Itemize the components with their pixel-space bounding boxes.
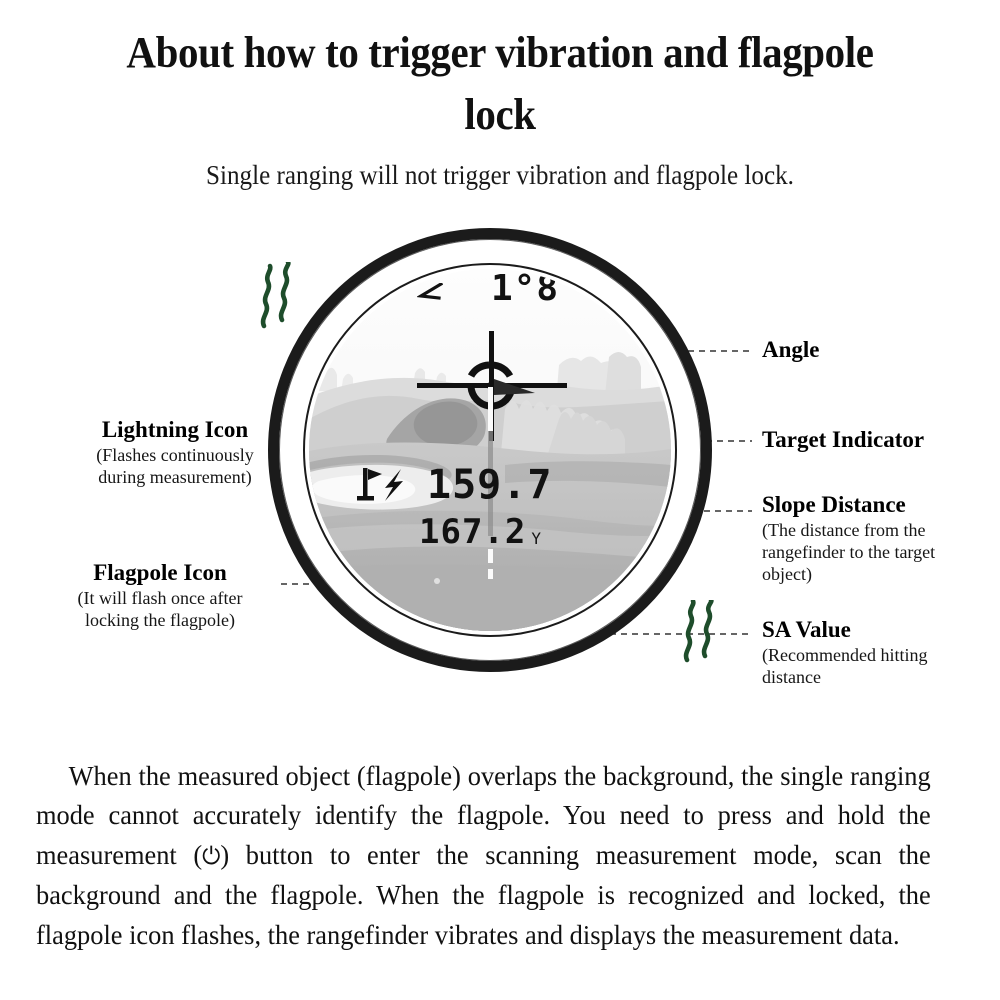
callout-flagpole-note-line2: locking the flagpole)	[85, 610, 235, 630]
angle-value: 1°8	[491, 271, 559, 307]
flagstick-tip-2	[488, 569, 493, 579]
callout-lightning-note-line1: (Flashes continuously	[96, 445, 254, 465]
callout-angle: Angle	[762, 337, 820, 363]
flagpole-and-lightning-icon	[357, 466, 405, 504]
page-title: About how to trigger vibration and flagp…	[91, 22, 909, 147]
callout-slope-title: Slope Distance	[762, 492, 987, 518]
rangefinder-figure: 1°8	[0, 215, 1000, 720]
slope-distance-value: 159.7	[427, 465, 552, 505]
angle-icon	[417, 283, 443, 301]
callout-lightning-note-line2: during measurement)	[98, 467, 251, 487]
callout-sa-title: SA Value	[762, 617, 987, 643]
callout-angle-title: Angle	[762, 337, 820, 363]
callout-slope-note: (The distance from the rangefinder to th…	[762, 520, 987, 586]
callout-flagpole-note-line1: (It will flash once after	[78, 588, 243, 608]
callout-flagpole-title: Flagpole Icon	[30, 560, 290, 586]
body-paragraph: When the measured object (flagpole) over…	[36, 756, 931, 955]
scope-hud-overlay: 1°8	[309, 269, 671, 631]
callout-sa-note: (Recommended hitting distance	[762, 645, 987, 689]
sa-value: 167.2	[419, 515, 526, 549]
sa-unit-label: Y	[531, 531, 541, 547]
sa-value-row: 167.2 Y	[419, 515, 541, 549]
callout-lightning-icon: Lightning Icon (Flashes continuously dur…	[60, 417, 290, 489]
flagstick-line	[488, 387, 493, 431]
callout-flagpole-icon: Flagpole Icon (It will flash once after …	[30, 560, 290, 632]
callout-target-title: Target Indicator	[762, 427, 924, 453]
callout-target-indicator: Target Indicator	[762, 427, 924, 453]
callout-lightning-title: Lightning Icon	[60, 417, 290, 443]
rangefinder-scope: 1°8	[268, 228, 712, 672]
power-symbol-icon: ⏻	[202, 842, 220, 870]
callout-sa-value: SA Value (Recommended hitting distance	[762, 617, 987, 689]
slope-distance-row: 159.7	[357, 465, 552, 505]
callout-slope-distance: Slope Distance (The distance from the ra…	[762, 492, 987, 586]
page-subtitle: Single ranging will not trigger vibratio…	[91, 158, 909, 193]
callout-lightning-note: (Flashes continuously during measurement…	[60, 445, 290, 489]
callout-flagpole-note: (It will flash once after locking the fl…	[30, 588, 290, 632]
scope-viewfinder: 1°8	[309, 269, 671, 631]
